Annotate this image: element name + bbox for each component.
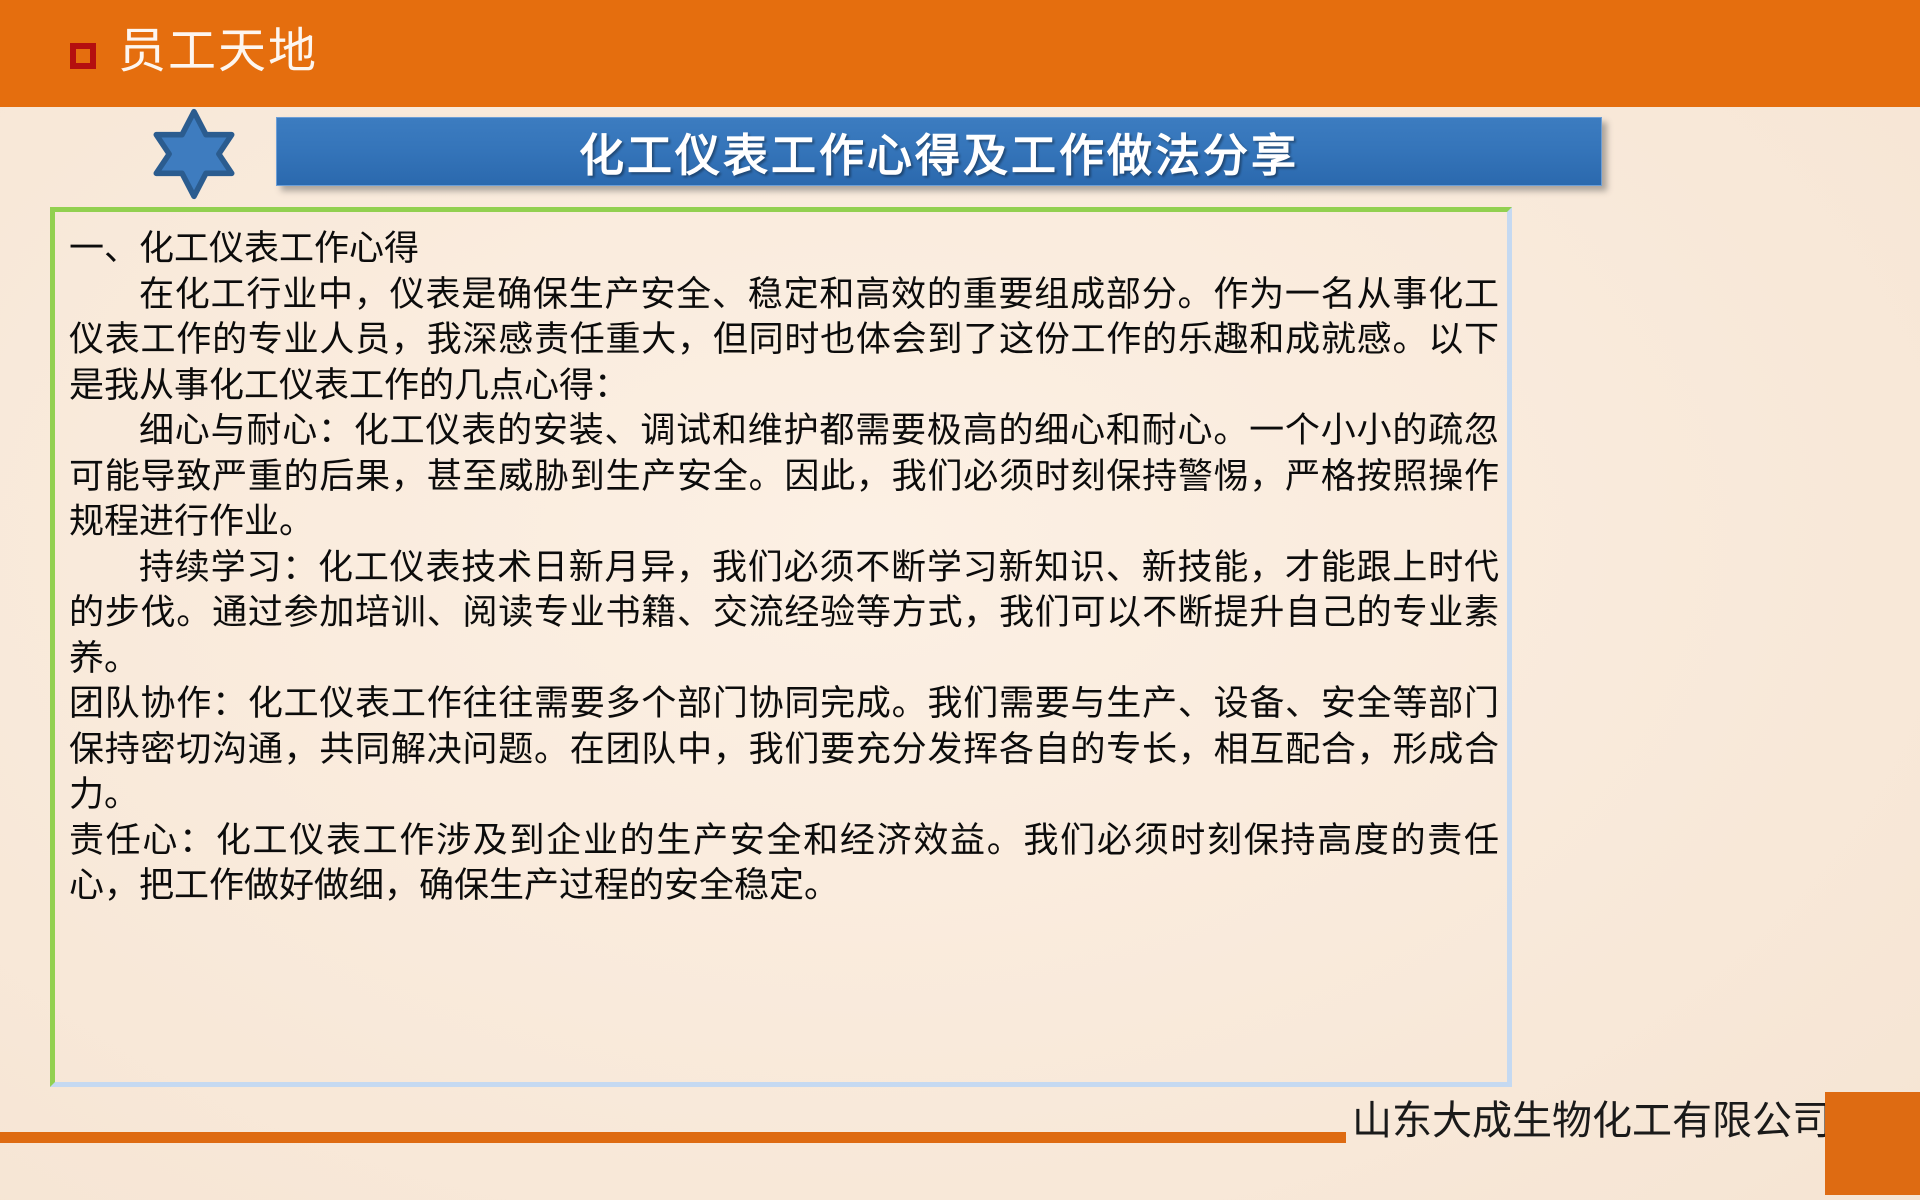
section-title-plate: 化工仪表工作心得及工作做法分享 bbox=[276, 117, 1602, 186]
paragraph-care: 细心与耐心：化工仪表的安装、调试和维护都需要极高的细心和耐心。一个小小的疏忽可能… bbox=[69, 408, 1499, 545]
footer-rule bbox=[0, 1132, 1346, 1143]
page-title: 员工天地 bbox=[118, 28, 318, 76]
square-bullet-icon bbox=[70, 43, 96, 69]
footer-company-name: 山东大成生物化工有限公司 bbox=[1352, 1101, 1832, 1141]
paragraph-heading: 一、化工仪表工作心得 bbox=[69, 226, 1499, 272]
paragraph-responsibility: 责任心：化工仪表工作涉及到企业的生产安全和经济效益。我们必须时刻保持高度的责任心… bbox=[69, 818, 1499, 909]
paragraph-intro: 在化工行业中，仪表是确保生产安全、稳定和高效的重要组成部分。作为一名从事化工仪表… bbox=[69, 272, 1499, 409]
six-pointed-star-icon bbox=[148, 108, 240, 200]
content-panel: 一、化工仪表工作心得 在化工行业中，仪表是确保生产安全、稳定和高效的重要组成部分… bbox=[50, 207, 1512, 1087]
body-text-block: 一、化工仪表工作心得 在化工行业中，仪表是确保生产安全、稳定和高效的重要组成部分… bbox=[69, 226, 1499, 909]
header-content: 员工天地 bbox=[70, 28, 318, 76]
paragraph-learning: 持续学习：化工仪表技术日新月异，我们必须不断学习新知识、新技能，才能跟上时代的步… bbox=[69, 545, 1499, 682]
footer-accent-block bbox=[1825, 1092, 1920, 1195]
slide-canvas: 员工天地 化工仪表工作心得及工作做法分享 一、化工仪表工作心得 在化工行业中，仪… bbox=[0, 0, 1920, 1200]
section-title-text: 化工仪表工作心得及工作做法分享 bbox=[579, 119, 1299, 184]
paragraph-teamwork: 团队协作：化工仪表工作往往需要多个部门协同完成。我们需要与生产、设备、安全等部门… bbox=[69, 681, 1499, 818]
header-band: 员工天地 bbox=[0, 0, 1920, 107]
